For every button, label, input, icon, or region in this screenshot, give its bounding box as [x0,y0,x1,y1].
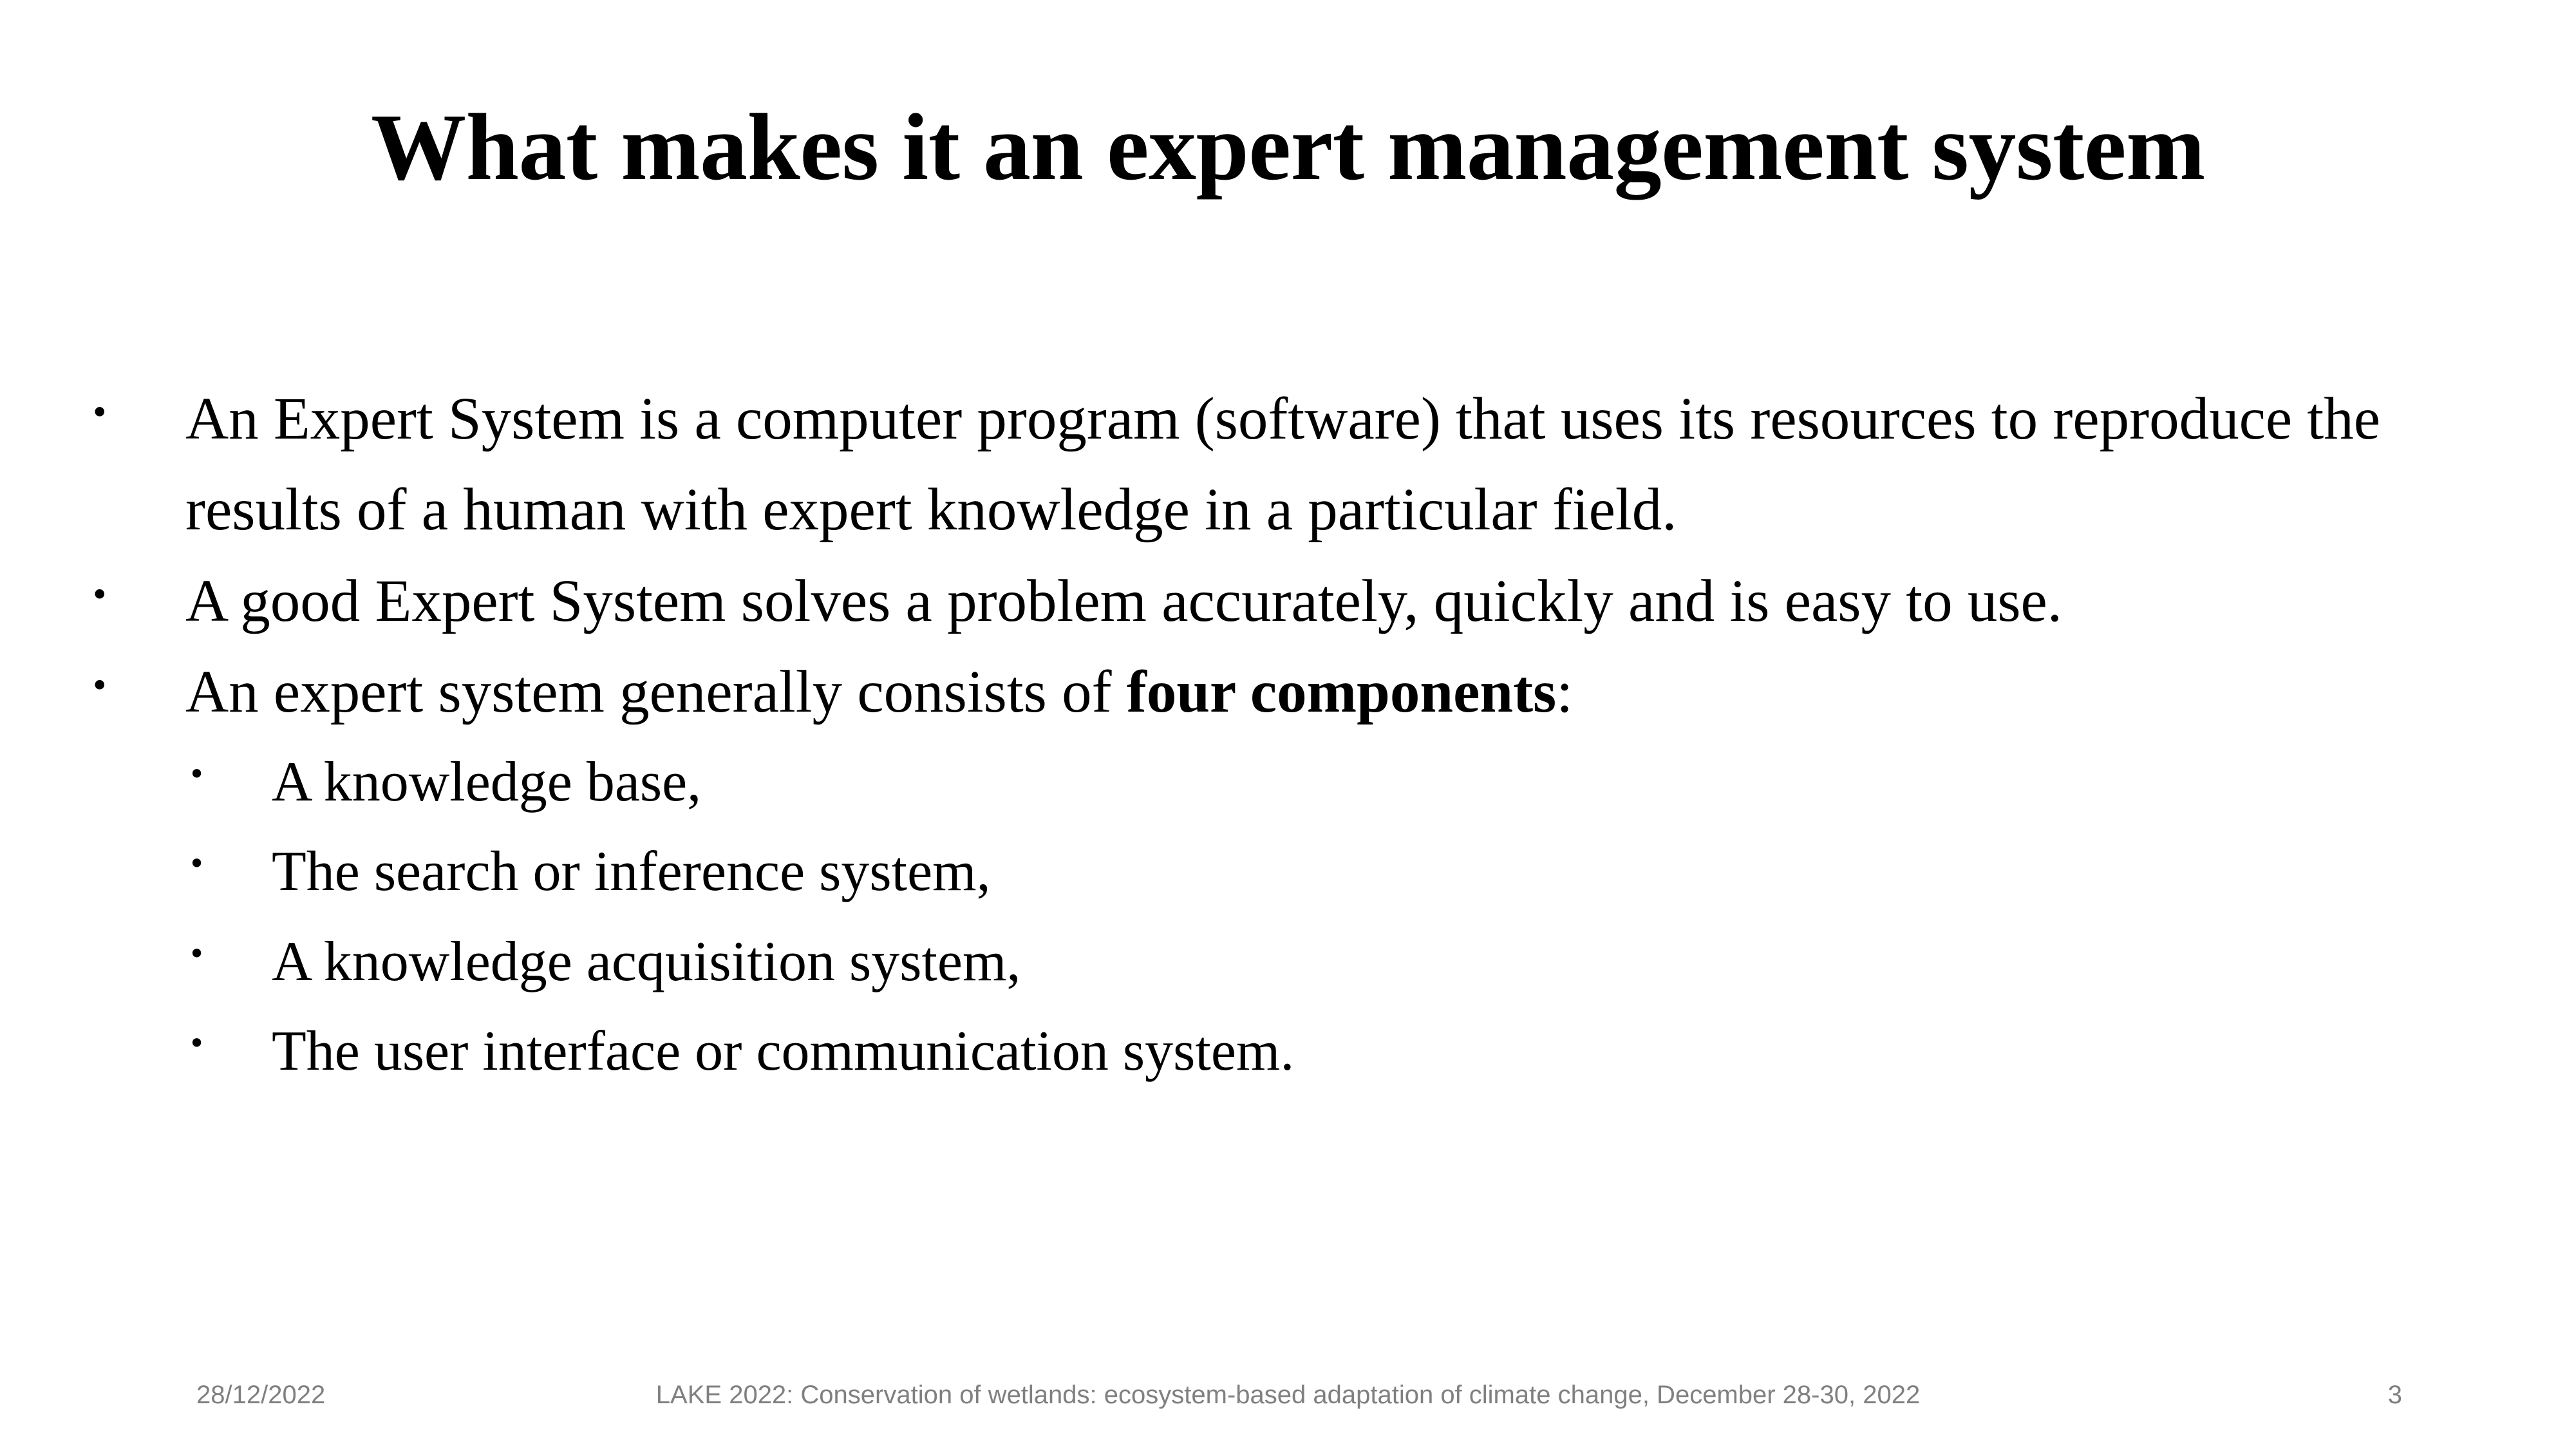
bullet-point-icon: • [90,556,185,611]
bullet-text-plain: The search or inference system, [272,840,991,903]
bullet-point-icon: • [188,737,272,789]
presentation-slide: What makes it an expert management syste… [0,0,2576,1449]
bullet-text: A good Expert System solves a problem ac… [185,556,2530,647]
bullet-text-plain: The user interface or communication syst… [272,1020,1294,1083]
bullet-item: •An Expert System is a computer program … [90,374,2530,556]
bullet-text: The search or inference system, [272,827,2530,916]
bullet-text-plain: An Expert System is a computer program (… [185,386,2380,543]
bullet-point-icon: • [188,827,272,878]
slide-body: •An Expert System is a computer program … [90,374,2530,1096]
bullet-point-icon: • [90,647,185,702]
page-title: What makes it an expert management syste… [0,95,2576,202]
bullet-text-plain: An expert system generally consists of [185,659,1127,725]
bullet-text: A knowledge base, [272,737,2530,827]
bullet-text-tail: : [1556,659,1573,725]
bullet-text: An expert system generally consists of f… [185,647,2530,737]
bullet-item: •An expert system generally consists of … [90,647,2530,737]
bullet-point-icon: • [188,917,272,969]
bullet-text: A knowledge acquisition system, [272,917,2530,1007]
bullet-item: •A knowledge base, [90,737,2530,827]
bullet-item: •The search or inference system, [90,827,2530,916]
bullet-text-emphasis: four components [1127,659,1556,725]
bullet-text: An Expert System is a computer program (… [185,374,2530,556]
slide-number: 3 [2388,1381,2402,1410]
bullet-point-icon: • [90,374,185,429]
bullet-item: •A knowledge acquisition system, [90,917,2530,1007]
bullet-item: •A good Expert System solves a problem a… [90,556,2530,647]
footer-conference-text: LAKE 2022: Conservation of wetlands: eco… [0,1381,2576,1410]
bullet-point-icon: • [188,1007,272,1058]
bullet-text: The user interface or communication syst… [272,1007,2530,1096]
bullet-item: •The user interface or communication sys… [90,1007,2530,1096]
bullet-text-plain: A knowledge acquisition system, [272,931,1020,993]
bullet-text-plain: A knowledge base, [272,751,701,813]
slide-footer: 28/12/2022 LAKE 2022: Conservation of we… [0,1381,2576,1426]
bullet-text-plain: A good Expert System solves a problem ac… [185,568,2062,634]
